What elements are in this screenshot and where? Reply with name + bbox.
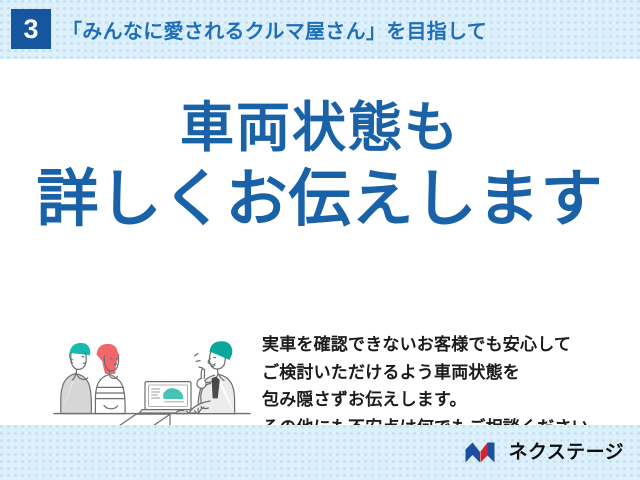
lower-section: 実車を確認できないお客様でも安心して ご検討いただけるよう車両状態を 包み隠さず… xyxy=(0,269,640,419)
nextage-n-logo-icon xyxy=(464,440,502,465)
headline-line-1: 車両状態も xyxy=(0,97,640,161)
brand-name-label: ネクステージ xyxy=(509,443,624,462)
headline: 車両状態も 詳しくお伝えします xyxy=(0,97,640,236)
footer-band: ネクステージ xyxy=(0,425,640,480)
section-number-badge: 3 xyxy=(11,9,51,49)
body-copy-line: 実車を確認できないお客様でも安心して xyxy=(262,331,612,359)
headline-line-2: 詳しくお伝えします xyxy=(0,163,640,236)
brand-logo: ネクステージ xyxy=(464,425,624,480)
body-copy-line: ご検討いただけるよう車両状態を xyxy=(262,359,612,387)
main-content: 車両状態も 詳しくお伝えします xyxy=(0,59,640,425)
section-number-label: 3 xyxy=(23,16,38,43)
consultation-illustration xyxy=(52,325,252,433)
body-copy-line: 包み隠さずお伝えします。 xyxy=(262,386,612,414)
header-title: 「みんなに愛されるクルマ屋さん」を目指して xyxy=(62,0,487,59)
promo-banner: 3 「みんなに愛されるクルマ屋さん」を目指して 車両状態も 詳しくお伝えします xyxy=(0,0,640,480)
header-band: 3 「みんなに愛されるクルマ屋さん」を目指して xyxy=(0,0,640,59)
consultation-illustration-svg xyxy=(52,325,252,433)
